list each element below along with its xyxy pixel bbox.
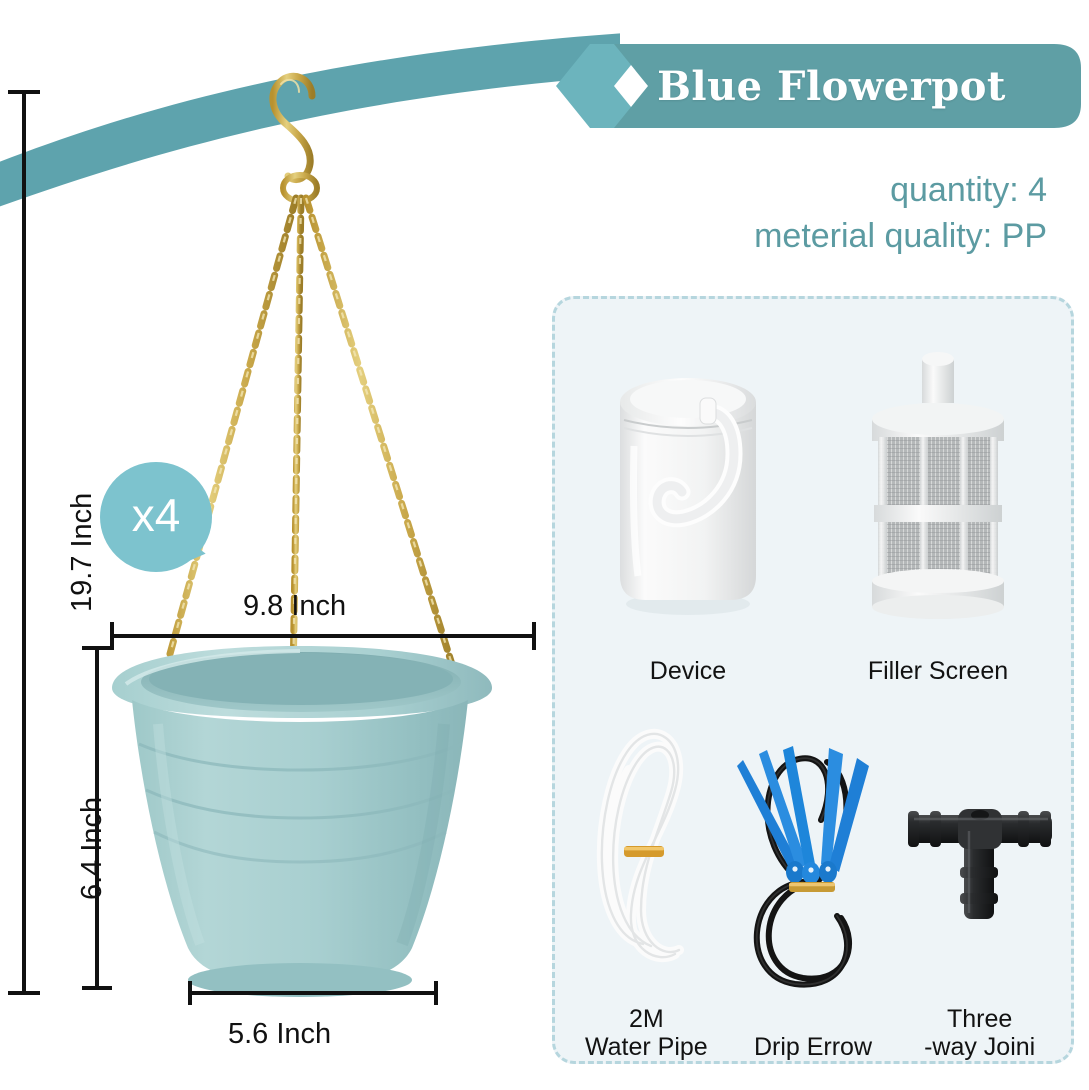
accessories-panel: Device	[552, 296, 1074, 1064]
tee-joint-art	[896, 695, 1063, 1005]
badge-label: x4	[100, 462, 212, 572]
dimension-pot-height-label: 6.4 Inch	[76, 797, 109, 900]
accessory-item-filler-screen[interactable]: Filler Screen	[813, 313, 1063, 695]
spec-list: quantity: 4 meterial quality: PP	[527, 168, 1047, 260]
tee-connector-icon	[900, 775, 1060, 925]
dimension-total-height-label: 19.7 Inch	[66, 493, 99, 612]
accessory-label-drip-arrow: Drip Errow	[754, 1033, 872, 1063]
filler-screen-art	[813, 313, 1063, 657]
blue-drip-arrow-icon	[733, 732, 893, 997]
spec-material: meterial quality: PP	[527, 214, 1047, 260]
dimension-base-width-label: 5.6 Inch	[228, 1018, 331, 1051]
accessory-label-filler-screen: Filler Screen	[868, 657, 1008, 695]
dimension-rim-width-label: 9.8 Inch	[243, 590, 346, 623]
water-device-icon	[588, 350, 788, 620]
product-infographic: 19.7 Inch 6.4 Inch 9.8 Inch 5.6 Inch x4 …	[0, 0, 1089, 1090]
s-hook-icon	[273, 76, 312, 179]
drip-arrow-art	[730, 695, 897, 1033]
accessory-item-drip-arrow[interactable]: Drip Errow	[730, 695, 897, 1063]
accessory-label-water-pipe: 2M Water Pipe	[585, 1005, 708, 1063]
accessory-label-tee-joint: Three -way Joini	[924, 1005, 1035, 1063]
quantity-badge: x4	[100, 462, 212, 572]
accessory-item-device[interactable]: Device	[563, 313, 813, 695]
water-pipe-art	[563, 695, 730, 1005]
flowerpot-body	[112, 646, 492, 997]
spec-quantity: quantity: 4	[527, 168, 1047, 214]
coiled-white-tube-icon	[571, 718, 721, 983]
accessory-label-device: Device	[650, 657, 726, 695]
accessory-item-water-pipe[interactable]: 2M Water Pipe	[563, 695, 730, 1063]
chain-clips	[151, 666, 467, 702]
device-art	[563, 313, 813, 657]
mesh-filter-icon	[848, 345, 1028, 625]
page-title: Blue Flowerpot	[556, 42, 1081, 130]
title-banner: Blue Flowerpot	[556, 42, 1081, 130]
accessory-item-tee-joint[interactable]: Three -way Joini	[896, 695, 1063, 1063]
